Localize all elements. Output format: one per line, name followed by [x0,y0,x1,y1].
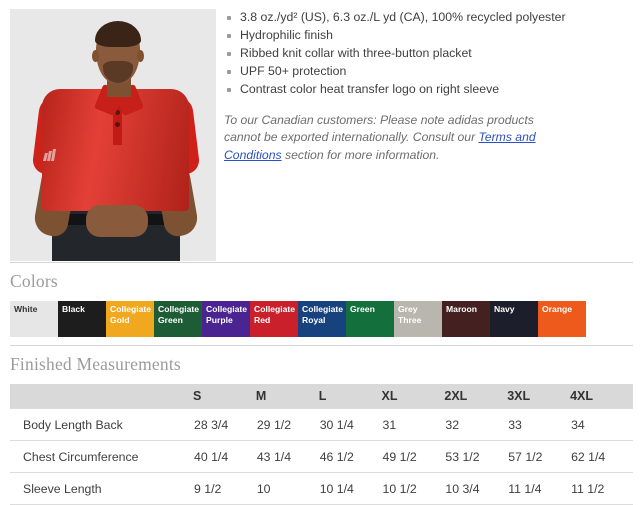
color-swatch-orange[interactable]: Orange [538,301,586,337]
color-swatch-collegiate-green[interactable]: Collegiate Green [154,301,202,337]
cell-value: 10 3/4 [444,473,507,505]
cell-value: 11 1/4 [507,473,570,505]
cell-value: 34 [570,409,633,441]
cell-value: 32 [444,409,507,441]
color-swatch-collegiate-red[interactable]: Collegiate Red [250,301,298,337]
cell-value: 62 1/4 [570,441,633,473]
cell-value: 31 [382,409,445,441]
table-body: Body Length Back 28 3/4 29 1/2 30 1/4 31… [10,409,633,505]
color-swatch-row: White Black Collegiate Gold Collegiate G… [10,301,643,337]
table-row: Chest Circumference 40 1/4 43 1/4 46 1/2… [10,441,633,473]
row-label: Chest Circumference [10,441,193,473]
disclaimer-text-after: section for more information. [282,148,440,162]
cell-value: 49 1/2 [382,441,445,473]
feature-item: Contrast color heat transfer logo on rig… [224,81,637,99]
table-row: Sleeve Length 9 1/2 10 10 1/4 10 1/2 10 … [10,473,633,505]
column-header-3xl: 3XL [507,384,570,409]
column-header-s: S [193,384,256,409]
model-right-ear [137,50,144,62]
cell-value: 30 1/4 [319,409,382,441]
cell-value: 11 1/2 [570,473,633,505]
model-left-ear [92,50,99,62]
product-photo-illustration [10,9,216,261]
feature-list-section: 3.8 oz./yd² (US), 6.3 oz./L yd (CA), 100… [216,0,643,176]
table-header-row: S M L XL 2XL 3XL 4XL [10,384,633,409]
adidas-logo-icon [43,149,57,161]
cell-value: 57 1/2 [507,441,570,473]
color-swatch-green[interactable]: Green [346,301,394,337]
color-swatch-white[interactable]: White [10,301,58,337]
cell-value: 46 1/2 [319,441,382,473]
column-header-measurement [10,384,193,409]
column-header-l: L [319,384,382,409]
canadian-customers-disclaimer: To our Canadian customers: Please note a… [224,112,554,165]
color-swatch-maroon[interactable]: Maroon [442,301,490,337]
color-swatch-collegiate-royal[interactable]: Collegiate Royal [298,301,346,337]
cell-value: 28 3/4 [193,409,256,441]
cell-value: 10 1/2 [382,473,445,505]
product-overview-section: 3.8 oz./yd² (US), 6.3 oz./L yd (CA), 100… [0,0,643,262]
cell-value: 43 1/4 [256,441,319,473]
color-swatch-collegiate-gold[interactable]: Collegiate Gold [106,301,154,337]
cell-value: 10 1/4 [319,473,382,505]
cell-value: 33 [507,409,570,441]
colors-heading: Colors [0,263,643,292]
column-header-2xl: 2XL [444,384,507,409]
color-swatch-grey-three[interactable]: Grey Three [394,301,442,337]
feature-item: Ribbed knit collar with three-button pla… [224,45,637,63]
feature-item: Hydrophilic finish [224,27,637,45]
table-header: S M L XL 2XL 3XL 4XL [10,384,633,409]
table-row: Body Length Back 28 3/4 29 1/2 30 1/4 31… [10,409,633,441]
measurements-heading: Finished Measurements [0,346,643,375]
cell-value: 9 1/2 [193,473,256,505]
row-label: Body Length Back [10,409,193,441]
cell-value: 53 1/2 [444,441,507,473]
feature-item: 3.8 oz./yd² (US), 6.3 oz./L yd (CA), 100… [224,9,637,27]
row-label: Sleeve Length [10,473,193,505]
color-swatch-navy[interactable]: Navy [490,301,538,337]
model-hands [86,205,148,237]
model-hair [95,21,141,47]
cell-value: 29 1/2 [256,409,319,441]
finished-measurements-table: S M L XL 2XL 3XL 4XL Body Length Back 28… [10,384,633,505]
column-header-m: M [256,384,319,409]
color-swatch-black[interactable]: Black [58,301,106,337]
product-feature-list: 3.8 oz./yd² (US), 6.3 oz./L yd (CA), 100… [224,9,637,99]
polo-button-bottom [115,122,120,127]
feature-item: UPF 50+ protection [224,63,637,81]
cell-value: 10 [256,473,319,505]
product-image[interactable] [10,9,216,261]
color-swatch-collegiate-purple[interactable]: Collegiate Purple [202,301,250,337]
cell-value: 40 1/4 [193,441,256,473]
column-header-4xl: 4XL [570,384,633,409]
column-header-xl: XL [382,384,445,409]
